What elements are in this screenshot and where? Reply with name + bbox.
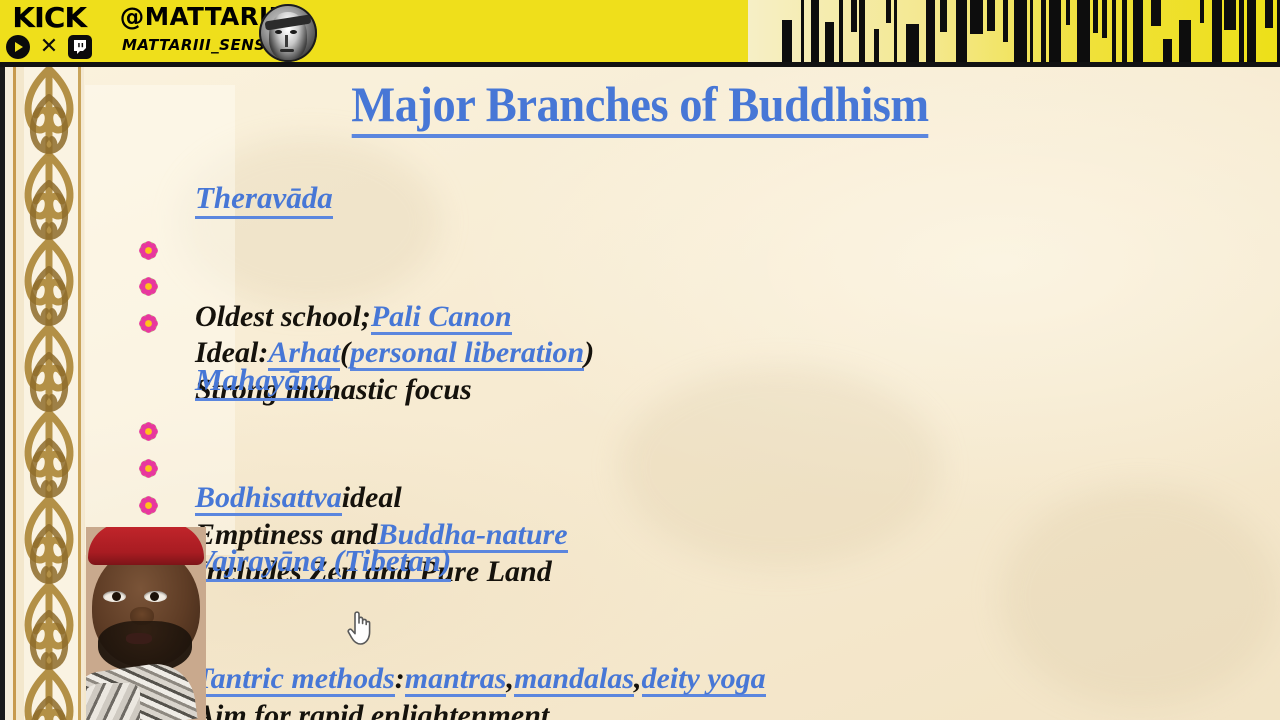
avatar-mouth — [280, 49, 294, 52]
mouse-cursor-pointer-hand-icon — [344, 606, 378, 646]
barcode-bar — [1200, 0, 1204, 23]
barcode-bar — [1014, 0, 1027, 62]
bullet-flower-icon — [139, 422, 158, 441]
social-links: ✕ — [6, 35, 92, 59]
bullet-seg-link[interactable]: deity yoga — [642, 664, 766, 697]
bullet-flower-icon — [139, 459, 158, 478]
barcode-bar — [874, 29, 879, 62]
webcam-overlay[interactable] — [86, 527, 206, 720]
bullet-seg: ( — [340, 336, 350, 370]
barcode-bar — [1247, 0, 1256, 62]
bullet-seg: Oldest school; — [195, 300, 371, 334]
bullet-seg-link[interactable]: Bodhisattva — [195, 483, 342, 516]
barcode-bar — [1151, 0, 1161, 26]
barcode-bar — [1102, 0, 1107, 38]
branch-heading-theravada[interactable]: Theravāda — [195, 180, 333, 219]
bullet-seg-link[interactable]: Tantric methods — [195, 664, 395, 697]
bullet-flower-icon — [139, 241, 158, 260]
barcode-bar — [886, 0, 891, 23]
webcam-mouth — [126, 633, 152, 644]
avatar-eye-right — [290, 30, 297, 34]
stream-banner: KICK ✕ @MATTARIII MATTARIII_SENSEI — [0, 0, 1280, 62]
bullet-item[interactable]: Aim for rapid enlightenment — [195, 699, 549, 720]
bullet-seg: : — [395, 662, 405, 696]
barcode-bar — [894, 0, 897, 62]
barcode-bar — [859, 0, 865, 62]
barcode-bar — [970, 0, 983, 34]
bullet-seg-link[interactable]: mantras — [405, 664, 507, 697]
bullet-seg-link[interactable]: Pali Canon — [371, 302, 512, 335]
barcode-bar — [1212, 0, 1222, 62]
barcode-bar — [851, 0, 857, 32]
barcode-bar — [839, 0, 843, 62]
avatar-eye-left — [275, 30, 282, 34]
barcode-bar — [801, 0, 804, 62]
avatar[interactable] — [259, 4, 317, 62]
x-icon[interactable]: ✕ — [37, 35, 61, 59]
branch-heading-text: Theravāda — [195, 180, 333, 219]
bullet-seg-link[interactable]: personal liberation — [350, 338, 584, 371]
barcode-bar — [956, 0, 967, 62]
bullet-seg: ) — [584, 336, 594, 370]
barcode-bar — [1265, 0, 1273, 28]
bullet-seg: , — [506, 662, 514, 696]
barcode-bar — [825, 22, 834, 62]
barcode-bar — [1179, 20, 1191, 62]
branch-heading-vajrayana[interactable]: Vajrayāna (Tibetan) — [195, 543, 451, 582]
barcode-bar — [1133, 0, 1143, 62]
bullet-seg: ideal — [342, 481, 402, 515]
bullet-item[interactable]: Bodhisattva ideal — [195, 481, 402, 516]
webcam-pupil-left — [112, 592, 121, 601]
barcode-bar — [987, 0, 995, 31]
slide-title: Major Branches of Buddhism — [45, 75, 1235, 138]
barcode-bar — [1030, 0, 1033, 62]
stream-subhandle: MATTARIII_SENSEI — [122, 36, 282, 54]
twitch-glyph — [72, 39, 88, 55]
webcam-beanie — [88, 527, 204, 565]
bullet-seg-link[interactable]: mandalas — [514, 664, 634, 697]
paper-texture-blotch — [620, 367, 940, 567]
youtube-icon[interactable] — [6, 35, 30, 59]
barcode-bar — [1224, 0, 1236, 30]
barcode-bar — [782, 20, 792, 62]
barcode-decoration — [748, 0, 1280, 62]
barcode-bar — [1066, 0, 1070, 25]
barcode-bar — [1003, 0, 1008, 42]
paper-texture-blotch — [1000, 487, 1280, 707]
banner-divider — [0, 62, 1280, 67]
barcode-bar — [1122, 0, 1127, 62]
barcode-bar — [940, 0, 947, 32]
barcode-bar — [1112, 0, 1116, 62]
bullet-flower-icon — [139, 314, 158, 333]
barcode-bar — [1163, 39, 1172, 62]
barcode-bar — [1077, 0, 1090, 62]
webcam-pupil-right — [150, 592, 159, 601]
screen-root: Major Branches of Buddhism Theravāda Old… — [0, 0, 1280, 720]
kick-logo[interactable]: KICK — [12, 1, 86, 34]
paper-texture-blotch — [180, 137, 440, 307]
barcode-bar — [906, 24, 919, 62]
barcode-bar — [926, 0, 935, 62]
barcode-bar — [1093, 0, 1098, 33]
barcode-bar — [1049, 0, 1061, 62]
branch-heading-text: Mahayāna — [195, 362, 333, 401]
bullet-flower-icon — [139, 496, 158, 515]
twitch-icon[interactable] — [68, 35, 92, 59]
branch-heading-text: Vajrayāna (Tibetan) — [195, 543, 451, 582]
webcam-shoulder — [86, 683, 140, 720]
branch-heading-mahayana[interactable]: Mahayāna — [195, 362, 333, 401]
bullet-item[interactable]: Oldest school; Pali Canon — [195, 300, 512, 335]
barcode-bar — [1239, 0, 1244, 62]
bullet-flower-icon — [139, 277, 158, 296]
bullet-seg: Aim for rapid enlightenment — [195, 699, 549, 720]
decorative-left-border — [0, 67, 84, 720]
bullet-item[interactable]: Tantric methods: mantras, mandalas, deit… — [195, 662, 766, 697]
barcode-bar — [1041, 0, 1046, 62]
bullet-seg: , — [634, 662, 642, 696]
scrollwork-ornament-icon — [20, 67, 78, 720]
slide-title-text: Major Branches of Buddhism — [351, 75, 928, 138]
barcode-bar — [811, 0, 819, 62]
avatar-nose — [285, 35, 288, 47]
